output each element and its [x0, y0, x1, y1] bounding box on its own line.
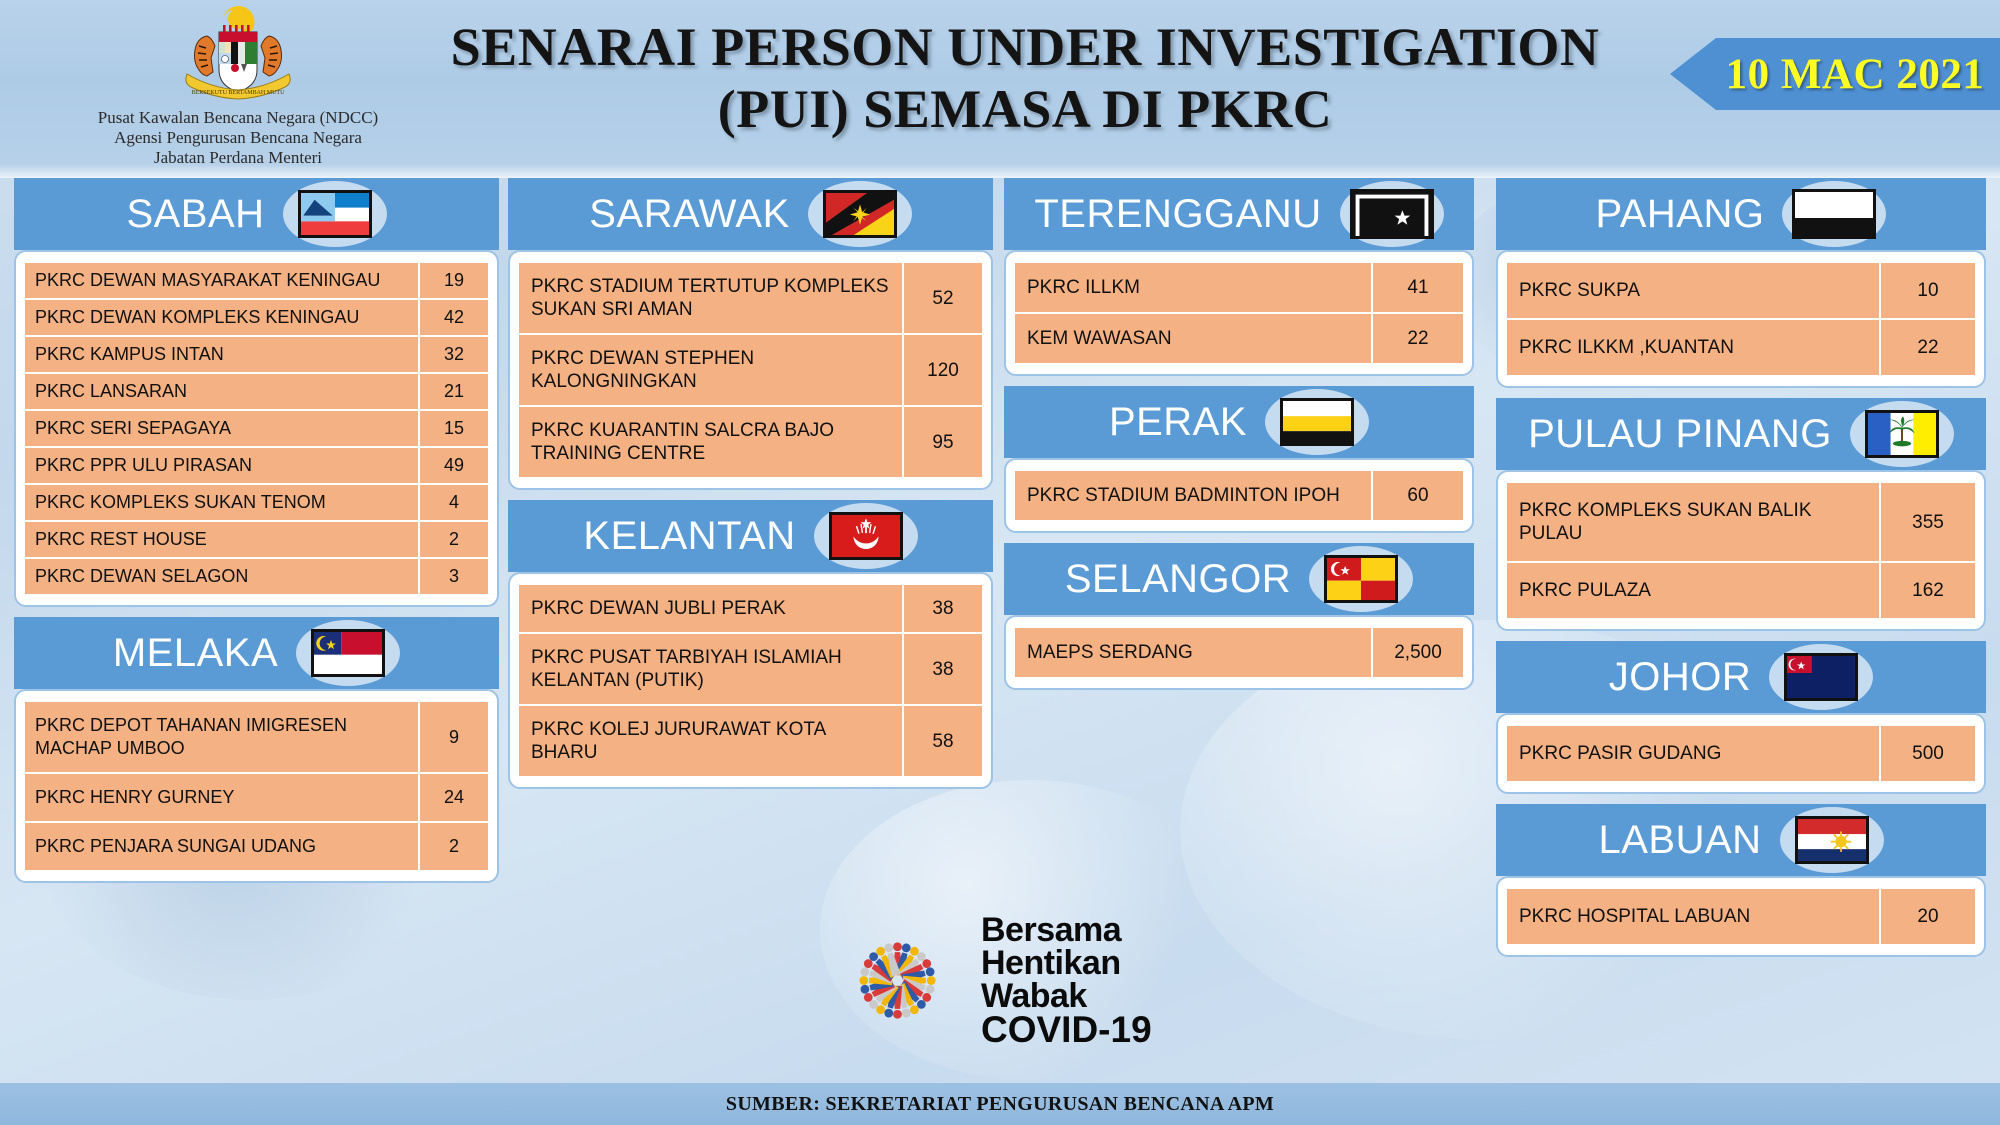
sarawak-flag-icon: [808, 181, 912, 247]
pui-count: 38: [902, 634, 982, 704]
date-banner: 10 MAC 2021: [1670, 38, 2000, 110]
state-name: JOHOR: [1609, 657, 1752, 697]
facility-name: PKRC PULAZA: [1507, 563, 1879, 618]
pui-count: 2,500: [1371, 628, 1463, 677]
pui-count: 52: [902, 263, 982, 333]
facility-name: PKRC HENRY GURNEY: [25, 774, 418, 821]
state-header-melaka: MELAKA: [14, 617, 499, 689]
footer-bar: SUMBER: SEKRETARIAT PENGURUSAN BENCANA A…: [0, 1083, 2000, 1125]
table-row: PKRC PASIR GUDANG500: [1507, 726, 1975, 781]
facility-name: PKRC DEWAN MASYARAKAT KENINGAU: [25, 263, 418, 298]
facility-name: PKRC DEWAN JUBLI PERAK: [519, 585, 902, 632]
table-row: PKRC DEWAN MASYARAKAT KENINGAU19: [25, 263, 488, 298]
pkrc-table-card: PKRC PASIR GUDANG500: [1496, 713, 1986, 794]
pui-count: 10: [1879, 263, 1975, 318]
facility-name: PKRC ILLKM: [1015, 263, 1371, 312]
facility-name: PKRC REST HOUSE: [25, 522, 418, 557]
column-3: TERENGGANU PKRC ILLKM41KEM WAWASAN22PERA…: [1004, 178, 1474, 700]
state-name: SABAH: [126, 194, 264, 234]
table-row: PKRC SERI SEPAGAYA15: [25, 411, 488, 446]
pui-count: 355: [1879, 483, 1975, 561]
column-1: SABAH PKRC DEWAN MASYARAKAT KENINGAU19PK…: [14, 178, 499, 893]
svg-text:BERSEKUTU BERTAMBAH MUTU: BERSEKUTU BERTAMBAH MUTU: [192, 90, 285, 96]
pui-count: 32: [418, 337, 488, 372]
pui-count: 19: [418, 263, 488, 298]
facility-name: PKRC DEWAN KOMPLEKS KENINGAU: [25, 300, 418, 335]
pui-count: 24: [418, 774, 488, 821]
pkrc-table-card: PKRC SUKPA10PKRC ILKKM ,KUANTAN22: [1496, 250, 1986, 388]
pkrc-table: MAEPS SERDANG2,500: [1015, 626, 1463, 679]
pui-count: 58: [902, 706, 982, 776]
state-header-perak: PERAK: [1004, 386, 1474, 458]
pui-count: 15: [418, 411, 488, 446]
pkrc-table: PKRC HOSPITAL LABUAN20: [1507, 887, 1975, 946]
table-row: PKRC SUKPA10: [1507, 263, 1975, 318]
pui-count: 49: [418, 448, 488, 483]
state-name: TERENGGANU: [1034, 194, 1321, 234]
pkrc-table-card: PKRC DEWAN MASYARAKAT KENINGAU19PKRC DEW…: [14, 250, 499, 607]
table-row: MAEPS SERDANG2,500: [1015, 628, 1463, 677]
table-row: PKRC DEPOT TAHANAN IMIGRESEN MACHAP UMBO…: [25, 702, 488, 772]
facility-name: PKRC PENJARA SUNGAI UDANG: [25, 823, 418, 870]
state-name: SARAWAK: [589, 194, 790, 234]
state-block-melaka: MELAKA PKRC DEPOT TAHANAN IMIGRESEN MACH…: [14, 617, 499, 883]
pui-count: 162: [1879, 563, 1975, 618]
facility-name: PKRC KAMPUS INTAN: [25, 337, 418, 372]
pkrc-table-card: PKRC KOMPLEKS SUKAN BALIK PULAU355PKRC P…: [1496, 470, 1986, 631]
pkrc-table: PKRC STADIUM BADMINTON IPOH60: [1015, 469, 1463, 522]
facility-name: PKRC SUKPA: [1507, 263, 1879, 318]
facility-name: PKRC STADIUM TERTUTUP KOMPLEKS SUKAN SRI…: [519, 263, 902, 333]
table-row: PKRC DEWAN STEPHEN KALONGNINGKAN120: [519, 335, 982, 405]
facility-name: PKRC PPR ULU PIRASAN: [25, 448, 418, 483]
facility-name: PKRC LANSARAN: [25, 374, 418, 409]
pahang-flag-icon: [1782, 181, 1886, 247]
pui-count: 20: [1879, 889, 1975, 944]
facility-name: PKRC KUARANTIN SALCRA BAJO TRAINING CENT…: [519, 407, 902, 477]
state-header-labuan: LABUAN: [1496, 804, 1986, 876]
table-row: PKRC KOMPLEKS SUKAN BALIK PULAU355: [1507, 483, 1975, 561]
table-row: PKRC HOSPITAL LABUAN20: [1507, 889, 1975, 944]
state-header-kelantan: KELANTAN: [508, 500, 993, 572]
state-name: KELANTAN: [583, 516, 795, 556]
table-row: PKRC PUSAT TARBIYAH ISLAMIAH KELANTAN (P…: [519, 634, 982, 704]
state-block-terengganu: TERENGGANU PKRC ILLKM41KEM WAWASAN22: [1004, 178, 1474, 376]
facility-name: PKRC KOLEJ JURURAWAT KOTA BHARU: [519, 706, 902, 776]
table-row: PKRC LANSARAN21: [25, 374, 488, 409]
pkrc-table-card: PKRC DEPOT TAHANAN IMIGRESEN MACHAP UMBO…: [14, 689, 499, 883]
pui-count: 4: [418, 485, 488, 520]
facility-name: PKRC DEWAN SELAGON: [25, 559, 418, 594]
pkrc-table: PKRC STADIUM TERTUTUP KOMPLEKS SUKAN SRI…: [519, 261, 982, 479]
campaign-line-4: COVID-19: [981, 1013, 1152, 1046]
pui-count: 21: [418, 374, 488, 409]
sabah-flag-icon: [283, 181, 387, 247]
pui-count: 95: [902, 407, 982, 477]
pui-count: 3: [418, 559, 488, 594]
table-row: PKRC ILLKM41: [1015, 263, 1463, 312]
facility-name: PKRC PUSAT TARBIYAH ISLAMIAH KELANTAN (P…: [519, 634, 902, 704]
kelantan-flag-icon: [814, 503, 918, 569]
selangor-flag-icon: [1309, 546, 1413, 612]
state-name: PERAK: [1109, 402, 1247, 442]
table-row: KEM WAWASAN22: [1015, 314, 1463, 363]
table-row: PKRC KOMPLEKS SUKAN TENOM4: [25, 485, 488, 520]
state-name: MELAKA: [113, 633, 278, 673]
pui-count: 22: [1371, 314, 1463, 363]
pkrc-table-card: PKRC DEWAN JUBLI PERAK38PKRC PUSAT TARBI…: [508, 572, 993, 789]
agency-line-2: Agensi Pengurusan Bencana Negara: [28, 128, 448, 148]
facility-name: PKRC SERI SEPAGAYA: [25, 411, 418, 446]
table-row: PKRC REST HOUSE2: [25, 522, 488, 557]
state-header-pahang: PAHANG: [1496, 178, 1986, 250]
table-row: PKRC PPR ULU PIRASAN49: [25, 448, 488, 483]
pui-count: 9: [418, 702, 488, 772]
state-header-sabah: SABAH: [14, 178, 499, 250]
pkrc-table-card: PKRC HOSPITAL LABUAN20: [1496, 876, 1986, 957]
facility-name: PKRC KOMPLEKS SUKAN BALIK PULAU: [1507, 483, 1879, 561]
table-row: PKRC KOLEJ JURURAWAT KOTA BHARU58: [519, 706, 982, 776]
state-block-johor: JOHOR PKRC PASIR GUDANG500: [1496, 641, 1986, 794]
campaign-text: Bersama Hentikan Wabak COVID-19: [981, 914, 1152, 1046]
state-block-perak: PERAK PKRC STADIUM BADMINTON IPOH60: [1004, 386, 1474, 533]
state-header-sarawak: SARAWAK: [508, 178, 993, 250]
pkrc-table-card: PKRC STADIUM BADMINTON IPOH60: [1004, 458, 1474, 533]
pui-count: 38: [902, 585, 982, 632]
table-row: PKRC STADIUM BADMINTON IPOH60: [1015, 471, 1463, 520]
table-row: PKRC STADIUM TERTUTUP KOMPLEKS SUKAN SRI…: [519, 263, 982, 333]
pui-count: 500: [1879, 726, 1975, 781]
pui-count: 42: [418, 300, 488, 335]
facility-name: PKRC DEPOT TAHANAN IMIGRESEN MACHAP UMBO…: [25, 702, 418, 772]
facility-name: KEM WAWASAN: [1015, 314, 1371, 363]
agency-line-1: Pusat Kawalan Bencana Negara (NDCC): [28, 108, 448, 128]
table-row: PKRC PULAZA162: [1507, 563, 1975, 618]
state-block-sarawak: SARAWAK PKRC STADIUM TERTUTUP KOMPLEKS S…: [508, 178, 993, 490]
table-row: PKRC PENJARA SUNGAI UDANG2: [25, 823, 488, 870]
page-title-line-2: (PUI) SEMASA DI PKRC: [430, 78, 1620, 140]
table-row: PKRC DEWAN KOMPLEKS KENINGAU42: [25, 300, 488, 335]
facility-name: PKRC KOMPLEKS SUKAN TENOM: [25, 485, 418, 520]
pui-count: 41: [1371, 263, 1463, 312]
agency-line-3: Jabatan Perdana Menteri: [28, 148, 448, 168]
table-row: PKRC KUARANTIN SALCRA BAJO TRAINING CENT…: [519, 407, 982, 477]
state-header-pulau-pinang: PULAU PINANG: [1496, 398, 1986, 470]
campaign-logo: Bersama Hentikan Wabak COVID-19: [830, 905, 1250, 1055]
facility-name: PKRC DEWAN STEPHEN KALONGNINGKAN: [519, 335, 902, 405]
facility-name: PKRC HOSPITAL LABUAN: [1507, 889, 1879, 944]
pkrc-table-card: PKRC ILLKM41KEM WAWASAN22: [1004, 250, 1474, 376]
campaign-line-1: Bersama: [981, 914, 1152, 947]
pkrc-table: PKRC PASIR GUDANG500: [1507, 724, 1975, 783]
state-header-selangor: SELANGOR: [1004, 543, 1474, 615]
facility-name: PKRC STADIUM BADMINTON IPOH: [1015, 471, 1371, 520]
state-block-kelantan: KELANTAN PKRC DEWAN JUBLI PERAK38PKRC PU…: [508, 500, 993, 789]
pui-count: 2: [418, 522, 488, 557]
table-row: PKRC KAMPUS INTAN32: [25, 337, 488, 372]
pulau-pinang-flag-icon: [1850, 401, 1954, 467]
pui-count: 120: [902, 335, 982, 405]
terengganu-flag-icon: [1340, 181, 1444, 247]
pkrc-table: PKRC DEWAN JUBLI PERAK38PKRC PUSAT TARBI…: [519, 583, 982, 778]
column-2: SARAWAK PKRC STADIUM TERTUTUP KOMPLEKS S…: [508, 178, 993, 799]
pui-count: 2: [418, 823, 488, 870]
pkrc-table-card: MAEPS SERDANG2,500: [1004, 615, 1474, 690]
state-block-labuan: LABUAN PKRC HOSPITAL LABUAN20: [1496, 804, 1986, 957]
report-date: 10 MAC 2021: [1726, 50, 1985, 99]
labuan-flag-icon: [1780, 807, 1884, 873]
pui-count: 22: [1879, 320, 1975, 375]
table-row: PKRC DEWAN JUBLI PERAK38: [519, 585, 982, 632]
campaign-line-2: Hentikan: [981, 947, 1152, 980]
page-title-line-1: SENARAI PERSON UNDER INVESTIGATION: [430, 16, 1620, 78]
pkrc-table: PKRC DEWAN MASYARAKAT KENINGAU19PKRC DEW…: [25, 261, 488, 596]
pkrc-table: PKRC DEPOT TAHANAN IMIGRESEN MACHAP UMBO…: [25, 700, 488, 872]
page-header: BERSEKUTU BERTAMBAH MUTU Pusat Kawalan B…: [0, 0, 2000, 178]
page-title: SENARAI PERSON UNDER INVESTIGATION (PUI)…: [430, 16, 1620, 140]
state-name: PAHANG: [1596, 194, 1765, 234]
table-row: PKRC HENRY GURNEY24: [25, 774, 488, 821]
table-row: PKRC ILKKM ,KUANTAN22: [1507, 320, 1975, 375]
pui-count: 60: [1371, 471, 1463, 520]
facility-name: PKRC PASIR GUDANG: [1507, 726, 1879, 781]
pkrc-table: PKRC KOMPLEKS SUKAN BALIK PULAU355PKRC P…: [1507, 481, 1975, 620]
facility-name: PKRC ILKKM ,KUANTAN: [1507, 320, 1879, 375]
pkrc-table: PKRC SUKPA10PKRC ILKKM ,KUANTAN22: [1507, 261, 1975, 377]
agency-identity: BERSEKUTU BERTAMBAH MUTU Pusat Kawalan B…: [28, 6, 448, 168]
table-row: PKRC DEWAN SELAGON3: [25, 559, 488, 594]
covid-unity-burst-icon: [830, 913, 965, 1048]
melaka-flag-icon: [296, 620, 400, 686]
state-block-pulau-pinang: PULAU PINANG PKRC KOMPLEKS SUKAN BALIK P…: [1496, 398, 1986, 631]
state-block-selangor: SELANGOR MAEPS SERDANG2,500: [1004, 543, 1474, 690]
source-text: SUMBER: SEKRETARIAT PENGURUSAN BENCANA A…: [726, 1093, 1274, 1116]
malaysia-coat-of-arms-icon: BERSEKUTU BERTAMBAH MUTU: [163, 6, 313, 106]
state-block-pahang: PAHANG PKRC SUKPA10PKRC ILKKM ,KUANTAN22: [1496, 178, 1986, 388]
pkrc-table: PKRC ILLKM41KEM WAWASAN22: [1015, 261, 1463, 365]
column-4: PAHANG PKRC SUKPA10PKRC ILKKM ,KUANTAN22…: [1496, 178, 1986, 967]
state-name: PULAU PINANG: [1528, 414, 1832, 454]
state-name: LABUAN: [1598, 820, 1761, 860]
perak-flag-icon: [1265, 389, 1369, 455]
state-header-johor: JOHOR: [1496, 641, 1986, 713]
facility-name: MAEPS SERDANG: [1015, 628, 1371, 677]
state-header-terengganu: TERENGGANU: [1004, 178, 1474, 250]
pkrc-table-card: PKRC STADIUM TERTUTUP KOMPLEKS SUKAN SRI…: [508, 250, 993, 490]
state-block-sabah: SABAH PKRC DEWAN MASYARAKAT KENINGAU19PK…: [14, 178, 499, 607]
johor-flag-icon: [1769, 644, 1873, 710]
state-name: SELANGOR: [1065, 559, 1291, 599]
